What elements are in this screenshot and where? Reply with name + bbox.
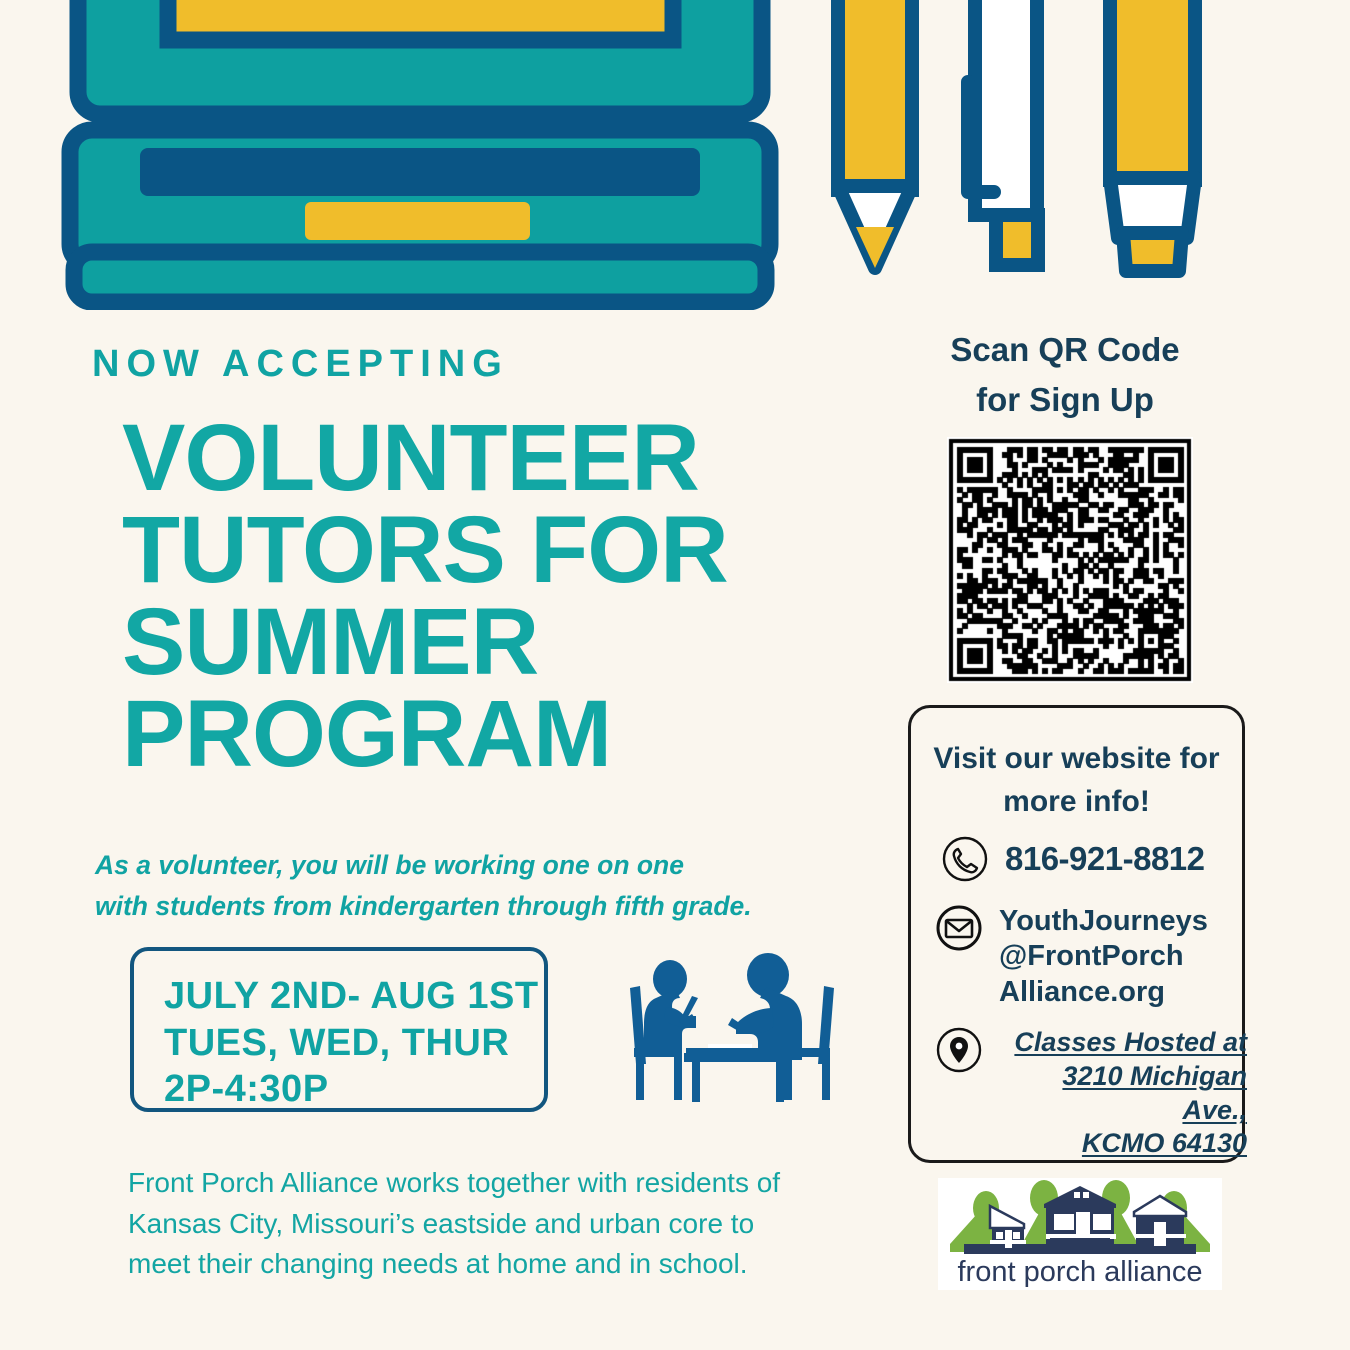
mission-statement: Front Porch Alliance works together with… <box>128 1163 848 1285</box>
pencil-case-icon <box>70 0 770 302</box>
subheadline: As a volunteer, you will be working one … <box>95 845 885 927</box>
mission-line-3: meet their changing needs at home and in… <box>128 1244 848 1285</box>
mission-line-1: Front Porch Alliance works together with… <box>128 1163 848 1204</box>
page-title: Volunteer Tutors for Summer Program <box>122 412 882 781</box>
qr-heading-line-1: Scan QR Code <box>905 325 1225 375</box>
schedule-text: July 2nd- Aug 1st Tues, Wed, Thur 2P-4:3… <box>164 973 539 1113</box>
schedule-dates: July 2nd- Aug 1st <box>164 973 539 1020</box>
contact-row-email[interactable]: YouthJourneys @FrontPorch Alliance.org <box>935 904 1208 1010</box>
front-porch-alliance-logo: front porch alliance <box>938 1178 1222 1290</box>
phone-number[interactable]: 816-921-8812 <box>1005 840 1205 878</box>
address-line-2: 3210 Michigan Ave., <box>999 1060 1247 1128</box>
email-address[interactable]: YouthJourneys @FrontPorch Alliance.org <box>999 904 1208 1010</box>
headline-line-2: Tutors for <box>122 504 882 596</box>
eyebrow-label: NOW ACCEPTING <box>92 345 509 383</box>
envelope-icon <box>935 904 983 952</box>
contact-heading: Visit our website for more info! <box>911 738 1242 823</box>
top-decoration-art <box>0 0 1350 310</box>
phone-icon <box>941 835 989 883</box>
headline-line-3: Summer <box>122 596 882 688</box>
contact-info-box: Visit our website for more info! 816-921… <box>908 705 1245 1163</box>
headline-line-4: Program <box>122 688 882 780</box>
schedule-days: Tues, Wed, Thur <box>164 1020 539 1067</box>
schedule-box: July 2nd- Aug 1st Tues, Wed, Thur 2P-4:3… <box>130 947 548 1112</box>
pen-icon <box>968 0 1038 265</box>
schedule-time: 2P-4:30P <box>164 1066 539 1113</box>
qr-code-image <box>947 437 1193 683</box>
tutoring-illustration <box>622 952 854 1107</box>
email-line-2: @FrontPorch <box>999 939 1208 974</box>
pencil-icon <box>838 0 912 268</box>
flyer-canvas: NOW ACCEPTING Volunteer Tutors for Summe… <box>0 0 1350 1350</box>
contact-heading-line-1: Visit our website for <box>911 738 1242 781</box>
email-line-1: YouthJourneys <box>999 904 1208 939</box>
marker-icon <box>1110 0 1195 271</box>
contact-row-phone[interactable]: 816-921-8812 <box>941 835 1205 883</box>
headline-line-1: Volunteer <box>122 412 882 504</box>
qr-code[interactable] <box>947 437 1193 683</box>
qr-code-heading: Scan QR Code for Sign Up <box>905 325 1225 424</box>
mission-line-2: Kansas City, Missouri’s eastside and urb… <box>128 1204 848 1245</box>
logo-wordmark: front porch alliance <box>957 1256 1202 1288</box>
email-line-3: Alliance.org <box>999 975 1208 1010</box>
address-line-3: KCMO 64130 <box>999 1127 1247 1161</box>
address-line-1: Classes Hosted at <box>999 1026 1247 1060</box>
subheadline-line-2: with students from kindergarten through … <box>95 886 885 927</box>
contact-row-address[interactable]: Classes Hosted at 3210 Michigan Ave., KC… <box>935 1026 1247 1161</box>
address[interactable]: Classes Hosted at 3210 Michigan Ave., KC… <box>999 1026 1247 1161</box>
contact-heading-line-2: more info! <box>911 781 1242 824</box>
subheadline-line-1: As a volunteer, you will be working one … <box>95 845 885 886</box>
qr-heading-line-2: for Sign Up <box>905 375 1225 425</box>
location-pin-icon <box>935 1026 983 1074</box>
